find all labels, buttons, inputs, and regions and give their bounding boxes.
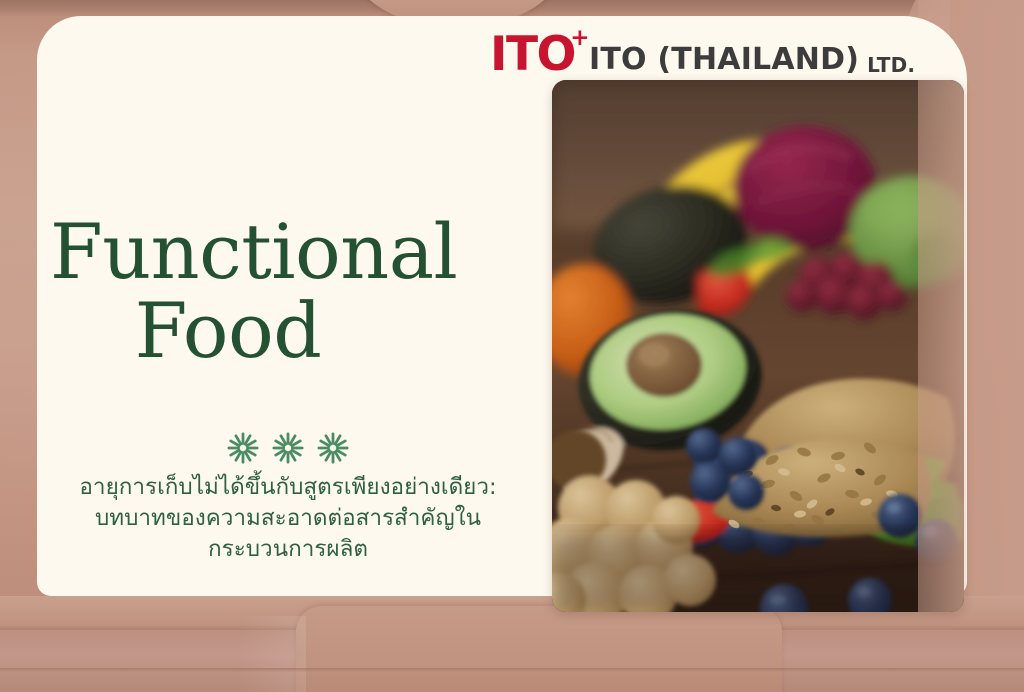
- box-bottom-flap: [296, 606, 782, 692]
- flower-burst-icon: [317, 432, 349, 464]
- food-photo-illustration: [552, 80, 964, 612]
- brand-lockup: ITO+ ITO (THAILAND) LTD.: [490, 26, 915, 78]
- page-title-line-1: Functional: [36, 212, 540, 291]
- subtitle-line-2: บทบาทของความสะอาดต่อสารสำคัญใน: [36, 503, 540, 534]
- page-title: Functional Food: [36, 212, 540, 370]
- slide-canvas: ITO+ ITO (THAILAND) LTD. Functional Food: [0, 0, 1024, 692]
- company-name: ITO (THAILAND): [589, 45, 859, 78]
- plus-icon: +: [570, 27, 588, 50]
- flower-burst-icon: [227, 432, 259, 464]
- ito-logo-wordmark: ITO: [490, 27, 575, 82]
- flower-burst-icon: [272, 432, 304, 464]
- subtitle-line-3: กระบวนการผลิต: [36, 534, 540, 565]
- functional-food-photo: [552, 80, 964, 612]
- page-title-line-2: Food: [36, 291, 540, 370]
- company-suffix: LTD.: [867, 55, 915, 78]
- ito-logo: ITO+: [490, 31, 575, 78]
- box-bottom-seam: [0, 668, 1024, 672]
- ornament-row: [36, 432, 540, 464]
- subtitle: อายุการเก็บไม่ได้ขึ้นกับสูตรเพียงอย่างเด…: [36, 472, 540, 565]
- subtitle-line-1: อายุการเก็บไม่ได้ขึ้นกับสูตรเพียงอย่างเด…: [36, 472, 540, 503]
